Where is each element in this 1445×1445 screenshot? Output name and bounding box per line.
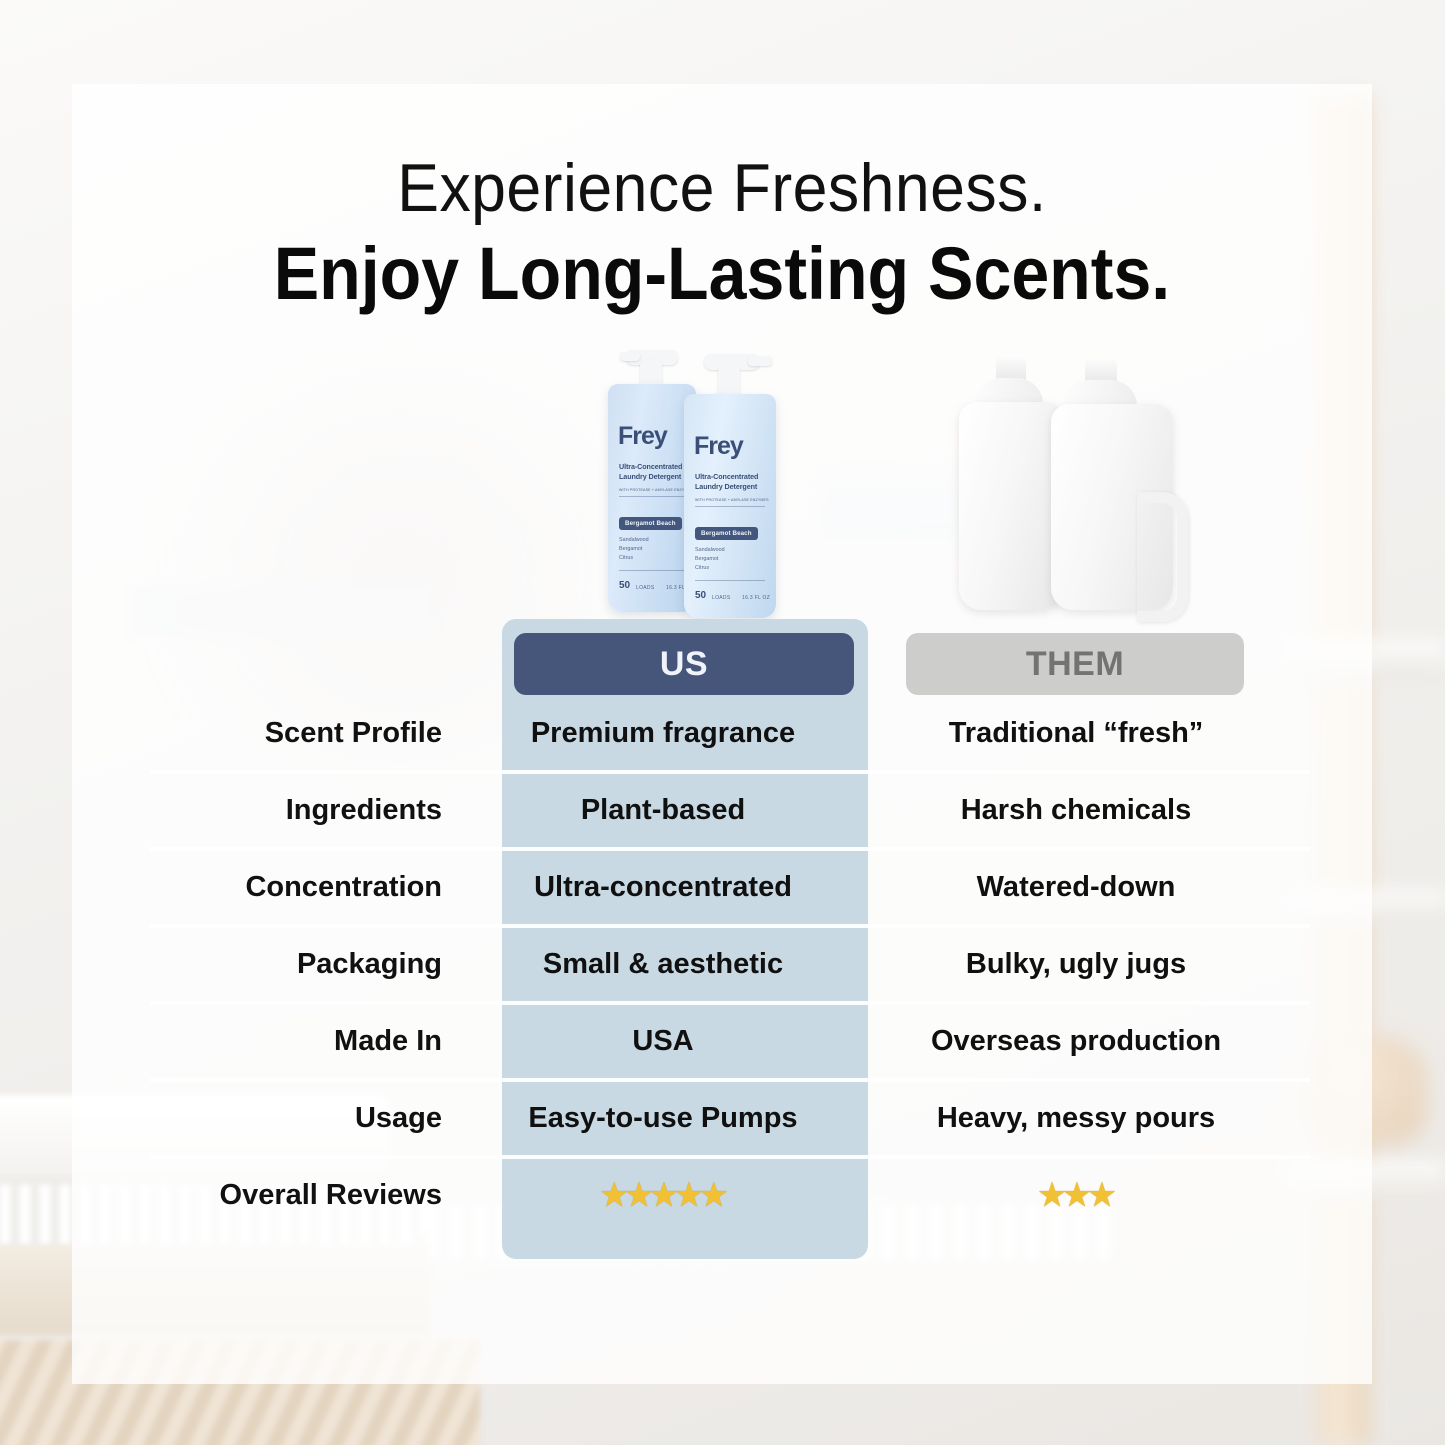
row-them-value: Bulky, ugly jugs [846,948,1306,981]
row-label: Overall Reviews [150,1179,480,1212]
frey-loads-value-front: 50 [695,590,706,601]
row-them-value: Overseas production [846,1025,1306,1058]
row-label: Usage [150,1102,480,1135]
comparison-table: US THEM Scent Profile Premium fragrance … [150,619,1310,1232]
frey-rule-front [695,506,765,507]
row-label: Concentration [150,871,480,904]
frey-rule2-front [695,580,765,581]
star-icon: ★ [626,1181,651,1211]
row-them-value: Watered-down [846,871,1306,904]
frey-subtitle-back-1: Ultra-Concentrated [619,462,682,472]
frey-note-back-1: Bergamot [619,545,642,553]
frey-scent-badge-front: Bergamot Beach [695,527,758,540]
table-row: Scent Profile Premium fragrance Traditio… [150,697,1310,770]
frey-subtitle-front-2: Laundry Detergent [695,482,757,492]
row-us-value: Ultra-concentrated [480,871,846,904]
row-them-value: Harsh chemicals [846,794,1306,827]
table-row: Made In USA Overseas production [150,1001,1310,1078]
row-us-value: Plant-based [480,794,846,827]
frey-note-front-0: Sandalwood [695,546,725,554]
frey-note-front-2: Citrus [695,564,709,572]
frey-note-back-2: Citrus [619,554,633,562]
frey-bottle-back: Frey Ultra-Concentrated Laundry Detergen… [608,384,696,612]
headline-line-2: Enjoy Long-Lasting Scents. [124,232,1320,316]
us-star-rating: ★★★★★ [480,1181,846,1211]
star-icon: ★ [1039,1181,1064,1211]
row-us-value: Small & aesthetic [480,948,846,981]
table-row: Packaging Small & aesthetic Bulky, ugly … [150,924,1310,1001]
them-star-rating: ★★★ [846,1181,1306,1211]
star-icon: ★ [700,1181,725,1211]
frey-loads-label-back: LOADS [636,585,654,591]
row-label: Ingredients [150,794,480,827]
star-icon: ★ [601,1181,626,1211]
frey-enzyme-note-back: WITH PROTEASE + AMYLASE ENZYMES [619,488,693,492]
frey-loads-label-front: LOADS [712,595,730,601]
frey-note-front-1: Bergamot [695,555,718,563]
pump-spout-back-icon [620,352,640,361]
headline-block: Experience Freshness. Enjoy Long-Lasting… [72,150,1372,316]
infographic-canvas: Experience Freshness. Enjoy Long-Lasting… [0,0,1445,1445]
frey-subtitle-front-1: Ultra-Concentrated [695,472,758,482]
row-us-value: USA [480,1025,846,1058]
frey-scent-badge-back: Bergamot Beach [619,517,682,530]
frey-brand-front: Frey [694,432,743,461]
frey-loads-value-back: 50 [619,580,630,591]
frey-rule2-back [619,570,685,571]
row-us-value: Easy-to-use Pumps [480,1102,846,1135]
comparison-header-row: US THEM [150,619,1310,697]
row-them-value: Traditional “fresh” [846,717,1306,750]
them-header-pill: THEM [906,633,1244,695]
row-label: Packaging [150,948,480,981]
competitor-jug-back [959,402,1063,610]
frey-enzyme-note-front: WITH PROTEASE + AMYLASE ENZYMES [695,498,769,502]
star-icon: ★ [1064,1181,1089,1211]
row-us-value: Premium fragrance [480,717,846,750]
pump-spout-front-icon [748,356,772,366]
star-icon: ★ [651,1181,676,1211]
row-label: Scent Profile [150,717,480,750]
competitor-jugs-group [955,352,1205,617]
frey-scent-badge-back-wrap: Bergamot Beach [619,512,682,530]
frey-bottles-group: Frey Ultra-Concentrated Laundry Detergen… [600,332,800,622]
star-icon: ★ [1088,1181,1113,1211]
jug-handle [1137,492,1188,622]
us-header-pill: US [514,633,854,695]
frey-rule-back [619,496,685,497]
table-row: Concentration Ultra-concentrated Watered… [150,847,1310,924]
table-row: Ingredients Plant-based Harsh chemicals [150,770,1310,847]
row-label: Made In [150,1025,480,1058]
frey-subtitle-back-2: Laundry Detergent [619,472,681,482]
frey-bottle-front: Frey Ultra-Concentrated Laundry Detergen… [684,394,776,618]
headline-line-1: Experience Freshness. [124,150,1320,226]
star-icon: ★ [675,1181,700,1211]
frey-volume-front: 16.3 FL OZ [742,595,770,601]
frey-note-back-0: Sandalwood [619,536,649,544]
frey-scent-badge-front-wrap: Bergamot Beach [695,522,758,540]
frey-brand-back: Frey [618,422,667,451]
table-row: Usage Easy-to-use Pumps Heavy, messy pou… [150,1078,1310,1155]
table-row-reviews: Overall Reviews ★★★★★ ★★★ [150,1155,1310,1232]
row-them-value: Heavy, messy pours [846,1102,1306,1135]
